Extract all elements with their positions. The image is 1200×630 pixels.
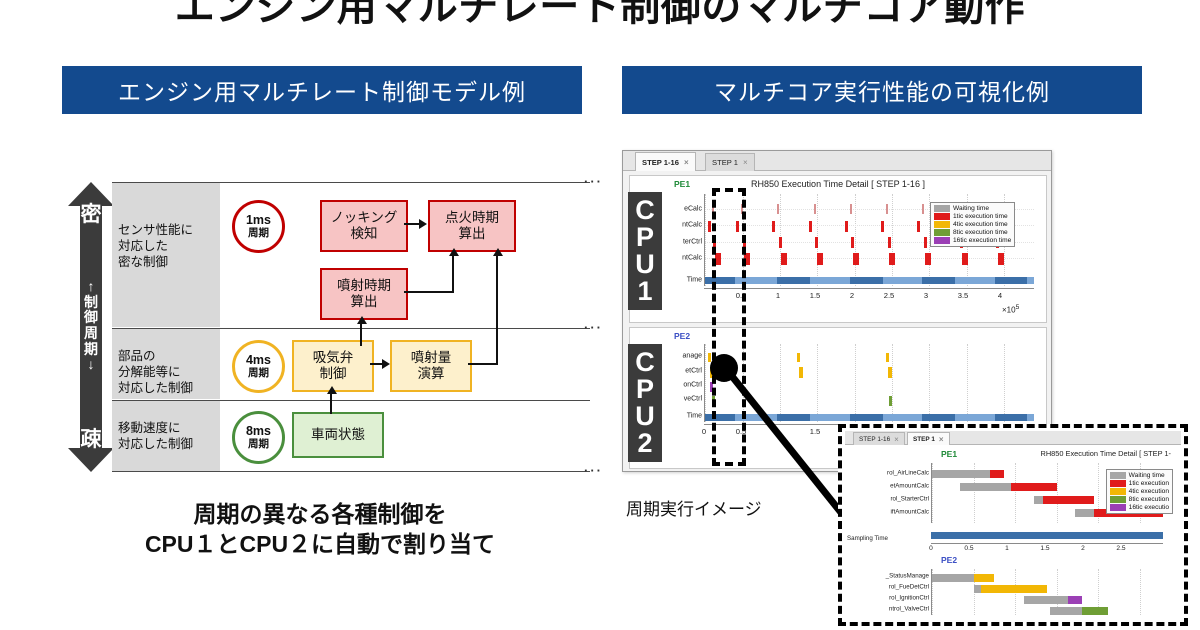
inset-pe2-label: PE2 <box>941 555 957 565</box>
waiting-bar <box>1034 496 1043 504</box>
legend-row: 16tic executio <box>1110 504 1169 511</box>
axis-label-dense: 密 <box>68 204 114 225</box>
exec-marker <box>772 221 775 232</box>
period-badge-4ms: 4ms 周期 <box>232 340 285 393</box>
multirate-control-model-diagram: 密 ↑ 制 御 周 期 ↓ 疎 ··· ··· ··· センサ性能に <box>60 182 590 472</box>
inset-tab-step-1-16[interactable]: STEP 1-16 × <box>853 432 905 445</box>
pe2-sampling-bar <box>705 414 1034 421</box>
node-line: 噴射時期 <box>337 278 391 294</box>
slide-root: エンジン用マルチレート制御のマルチコア動作 エンジン用マルチレート制御モデル例 … <box>0 0 1200 630</box>
gridline-v <box>929 344 930 422</box>
desc-line: 対応した <box>118 238 218 254</box>
period-value: 4ms <box>246 354 271 367</box>
exec-bar-4tic <box>981 585 1048 593</box>
gridline-h <box>705 258 1034 259</box>
node-line: 吸気弁 <box>313 350 354 366</box>
arrowhead-amount-to-injtiming <box>357 316 367 324</box>
selection-highlight-box <box>712 188 746 466</box>
cpu2-char: U <box>635 403 655 430</box>
legend-swatch-1tic <box>1110 480 1126 487</box>
pe2-label: PE2 <box>674 331 690 341</box>
axis-down-arrow: ↓ <box>88 357 95 373</box>
period-value: 1ms <box>246 214 271 227</box>
node-vehicle-state: 車両状態 <box>292 412 384 458</box>
connector-injtiming-v <box>452 256 454 293</box>
inset-sampling-label: Sampling Time <box>847 535 888 542</box>
pe2-row-label-3: veCtrl <box>684 395 702 402</box>
sampling-segment <box>850 277 883 284</box>
inset-chart-title: RH850 Execution Time Detail [ STEP 1- <box>1041 449 1172 458</box>
screenshot-caption: 周期実行イメージ <box>626 495 762 520</box>
tab-label: STEP 1-16 <box>642 158 679 167</box>
exec-marker <box>998 253 1004 265</box>
exec-bar-16tic <box>1068 596 1082 604</box>
cpu2-char: 2 <box>637 430 652 457</box>
legend-label: 4tic execution <box>1129 488 1169 495</box>
cpu1-char: P <box>636 224 654 251</box>
sampling-segment <box>922 414 955 421</box>
inset-pe2-panel: PE2 _StatusManage rol_FueDetCtrl rol_Ign… <box>845 553 1181 619</box>
node-injection-timing: 噴射時期 算出 <box>320 268 408 320</box>
legend-row: 16tic execution time <box>934 237 1011 244</box>
waiting-bar <box>960 483 1011 491</box>
continuation-dots-middle: ··· <box>584 321 603 334</box>
legend-label: 4tic execution time <box>953 221 1008 228</box>
waiting-bar <box>932 470 990 478</box>
axis-kanji-1: 御 <box>84 310 98 326</box>
sampling-segment <box>777 414 810 421</box>
pe1-sampling-bar <box>705 277 1034 284</box>
legend-row: 1tic execution <box>1110 480 1169 487</box>
exec-marker <box>779 237 782 248</box>
gridline-v <box>1015 463 1016 523</box>
node-line: 検知 <box>351 226 378 242</box>
legend-row: Waiting time <box>934 205 1011 212</box>
waiting-bar <box>974 585 981 593</box>
legend-label: Waiting time <box>1129 472 1165 479</box>
node-knocking-detection: ノッキング 検知 <box>320 200 408 252</box>
arrowhead-injtiming-to-ignition <box>449 248 459 256</box>
exec-marker <box>886 353 889 362</box>
continuation-dots-top: ··· <box>584 175 603 188</box>
control-period-axis-arrow: 密 ↑ 制 御 周 期 ↓ 疎 <box>68 182 114 472</box>
inset-pe1-x-axis <box>931 543 1163 544</box>
exponent-base: ×10 <box>1002 306 1016 315</box>
pe1-row-label-1: ntCalc <box>682 222 702 229</box>
exec-bar-1tic <box>1043 496 1094 504</box>
exec-bar-8tic <box>1082 607 1107 615</box>
connector-amount-ign-v <box>496 256 498 365</box>
legend-row: Waiting time <box>1110 472 1169 479</box>
legend-label: 1tic execution <box>1129 480 1169 487</box>
inset-pe2-row-0: _StatusManage <box>886 573 929 580</box>
caption-line-1: 周期の異なる各種制御を <box>40 500 600 530</box>
sampling-segment <box>995 277 1028 284</box>
legend-swatch-16tic <box>934 237 950 244</box>
pe1-row-label-3: ntCalc <box>682 255 702 262</box>
sampling-segment <box>922 277 955 284</box>
divider-top <box>112 182 590 183</box>
arrowhead-vehicle-to-valve <box>327 386 337 394</box>
arrow-down-head-icon <box>68 448 114 472</box>
legend-label: 1tic execution time <box>953 213 1008 220</box>
exec-marker <box>889 396 892 405</box>
exec-marker <box>962 253 968 265</box>
xtick: 1.5 <box>810 427 821 436</box>
pe2-row-label-1: etCtrl <box>685 367 702 374</box>
cpu1-char: U <box>635 251 655 278</box>
node-line: ノッキング <box>331 210 398 226</box>
connector-amount-to-injtiming <box>360 324 362 346</box>
xtick: 2 <box>850 291 854 300</box>
divider-4ms-8ms <box>112 400 590 401</box>
section-banner-left: エンジン用マルチレート制御モデル例 <box>62 66 582 114</box>
legend-swatch-8tic <box>1110 496 1126 503</box>
chart-title: RH850 Execution Time Detail [ STEP 1-16 … <box>630 179 1046 189</box>
exec-marker <box>708 353 711 362</box>
axis-kanji-0: 制 <box>84 295 98 311</box>
pe1-chart-panel: PE1 RH850 Execution Time Detail [ STEP 1… <box>629 175 1047 323</box>
exec-marker <box>924 237 927 248</box>
period-unit: 周期 <box>248 228 269 239</box>
tab-step-1[interactable]: STEP 1 × <box>705 153 755 171</box>
xtick: 1 <box>1005 545 1009 552</box>
pe2-sampling-label: Time <box>687 412 702 419</box>
legend-row: 8tic execution <box>1110 496 1169 503</box>
node-line: 演算 <box>418 366 445 382</box>
exec-bar-1tic <box>1011 483 1057 491</box>
divider-bottom <box>112 471 590 472</box>
legend-swatch-4tic <box>934 221 950 228</box>
gridline-v <box>1140 569 1141 615</box>
exec-marker <box>853 253 859 265</box>
desc-line: 部品の <box>118 348 218 364</box>
inset-pe2-row-3: ntrol_ValveCtrl <box>889 606 929 613</box>
legend-swatch-1tic <box>934 213 950 220</box>
exec-marker <box>881 221 884 232</box>
gridline-v <box>705 344 706 422</box>
node-line: 制御 <box>320 366 347 382</box>
exec-marker <box>886 204 888 214</box>
node-injection-amount: 噴射量 演算 <box>390 340 472 392</box>
exec-bar-1tic <box>990 470 1004 478</box>
node-line: 噴射量 <box>411 350 452 366</box>
node-line: 車両状態 <box>311 427 365 443</box>
inset-pe1-row-1: etAmountCalc <box>890 482 929 489</box>
exec-marker <box>845 221 848 232</box>
sampling-segment <box>850 414 883 421</box>
exponent-power: 5 <box>1016 304 1020 311</box>
xtick: 1.5 <box>1040 545 1049 552</box>
inset-pe1-row-0: rol_AirLineCalc <box>887 469 929 476</box>
pe1-row-label-2: terCtrl <box>683 238 702 245</box>
legend-row: 4tic execution <box>1110 488 1169 495</box>
connector-injtiming-h <box>404 291 454 293</box>
close-icon[interactable]: × <box>743 158 748 167</box>
inset-pe1-panel: PE1 RH850 Execution Time Detail [ STEP 1… <box>845 447 1181 551</box>
window-tabbar: STEP 1-16 × STEP 1 × <box>623 151 1051 171</box>
cpu2-char: C <box>635 349 655 376</box>
pe1-sampling-label: Time <box>687 277 702 284</box>
desc-line: 密な制御 <box>118 254 218 270</box>
legend-label: Waiting time <box>953 205 989 212</box>
close-icon[interactable]: × <box>684 158 689 167</box>
node-intake-valve-control: 吸気弁 制御 <box>292 340 374 392</box>
axis-label-sparse: 疎 <box>68 429 114 450</box>
section-banner-right: マルチコア実行性能の可視化例 <box>622 66 1142 114</box>
exec-marker <box>799 367 803 377</box>
cpu1-char: 1 <box>637 278 652 305</box>
xtick: 2.5 <box>884 291 895 300</box>
axis-label-control-period: ↑ 制 御 周 期 ↓ <box>68 250 114 402</box>
caption-line-2: CPU１とCPU２に自動で割り当て <box>40 530 600 560</box>
inset-tabbar: STEP 1-16 × STEP 1 × <box>845 431 1181 445</box>
exec-marker <box>797 353 800 362</box>
waiting-bar <box>932 574 974 582</box>
xtick: 1 <box>776 427 780 436</box>
continuation-dots-bottom: ··· <box>584 464 603 477</box>
divider-1ms-4ms <box>112 328 590 329</box>
pe2-row-label-0: anage <box>683 353 702 360</box>
row-description-8ms: 移動速度に 対応した制御 <box>118 420 218 452</box>
desc-line: 移動速度に <box>118 420 218 436</box>
legend-row: 8tic execution time <box>934 229 1011 236</box>
exec-marker <box>888 367 892 377</box>
pe1-row-label-0: eCalc <box>684 205 702 212</box>
period-badge-1ms: 1ms 周期 <box>232 200 285 253</box>
period-badge-8ms: 8ms 周期 <box>232 411 285 464</box>
inset-pe1-label: PE1 <box>941 449 957 459</box>
tab-label: STEP 1-16 <box>859 436 890 443</box>
exec-marker <box>809 221 812 232</box>
node-line: 算出 <box>459 226 486 242</box>
gridline-v <box>1057 463 1058 523</box>
exec-marker <box>922 204 924 214</box>
period-unit: 周期 <box>248 368 269 379</box>
exec-marker <box>888 237 891 248</box>
waiting-bar <box>1024 596 1068 604</box>
pe2-row-label-2: onCtrl <box>683 381 702 388</box>
xtick: 4 <box>998 291 1002 300</box>
legend-row: 4tic execution time <box>934 221 1011 228</box>
inset-pe2-row-1: rol_FueDetCtrl <box>889 584 929 591</box>
exec-marker <box>917 221 920 232</box>
gridline-v <box>780 344 781 422</box>
axis-up-arrow: ↑ <box>88 279 95 295</box>
exec-marker <box>889 253 895 265</box>
tab-step-1-16[interactable]: STEP 1-16 × <box>635 152 696 171</box>
xtick: 0 <box>929 545 933 552</box>
legend-swatch-waiting <box>934 205 950 212</box>
gridline-v <box>855 344 856 422</box>
inset-legend: Waiting time 1tic execution 4tic executi… <box>1106 469 1173 514</box>
exec-bar-4tic <box>974 574 995 582</box>
exec-marker <box>851 237 854 248</box>
cpu1-char: C <box>635 197 655 224</box>
legend-swatch-waiting <box>1110 472 1126 479</box>
close-icon[interactable]: × <box>894 435 899 444</box>
pe1-x-axis <box>704 288 1034 289</box>
sampling-segment <box>777 277 810 284</box>
exec-marker <box>777 204 779 214</box>
desc-line: 分解能等に <box>118 364 218 380</box>
exec-marker <box>925 253 931 265</box>
desc-line: 対応した制御 <box>118 380 218 396</box>
legend-swatch-8tic <box>934 229 950 236</box>
page-title: エンジン用マルチレート制御のマルチコア動作 <box>0 0 1200 32</box>
axis-exponent: ×105 <box>1002 304 1019 315</box>
inset-tab-step-1[interactable]: STEP 1 × <box>907 432 950 445</box>
desc-line: センサ性能に <box>118 222 218 238</box>
inset-content: STEP 1-16 × STEP 1 × PE1 RH850 Execution… <box>845 431 1181 619</box>
gridline-v <box>892 344 893 422</box>
row-description-4ms: 部品の 分解能等に 対応した制御 <box>118 348 218 396</box>
period-value: 8ms <box>246 425 271 438</box>
inset-sampling-bar <box>931 532 1163 539</box>
close-icon[interactable]: × <box>939 435 944 444</box>
node-line: 算出 <box>351 294 378 310</box>
sampling-segment <box>995 414 1028 421</box>
xtick: 0 <box>702 427 706 436</box>
detail-inset-window[interactable]: STEP 1-16 × STEP 1 × PE1 RH850 Execution… <box>838 424 1188 626</box>
cpu1-tab: C P U 1 <box>628 192 662 310</box>
legend-label: 8tic execution <box>1129 496 1169 503</box>
arrowhead-amount-to-ignition <box>493 248 503 256</box>
chart-legend: Waiting time 1tic execution time 4tic ex… <box>930 202 1015 247</box>
node-line: 点火時期 <box>445 210 499 226</box>
legend-label: 8tic execution time <box>953 229 1008 236</box>
diagram-grid: ··· ··· ··· センサ性能に 対応した 密な制御 部品の 分解能等に 対… <box>112 182 590 472</box>
exec-marker <box>815 237 818 248</box>
legend-label: 16tic executio <box>1129 504 1169 511</box>
exec-marker <box>708 221 711 232</box>
legend-row: 1tic execution time <box>934 213 1011 220</box>
exec-marker <box>814 204 816 214</box>
axis-kanji-2: 周 <box>84 326 98 342</box>
period-unit: 周期 <box>248 439 269 450</box>
connector-vehicle-to-valve <box>330 394 332 414</box>
desc-line: 対応した制御 <box>118 436 218 452</box>
sampling-segment <box>931 532 1163 539</box>
axis-kanji-3: 期 <box>84 342 98 358</box>
inset-pe1-row-2: rol_StarterCtrl <box>890 496 929 503</box>
inset-pe1-row-3: iftAmountCalc <box>890 509 929 516</box>
waiting-bar <box>1075 509 1093 517</box>
inset-pe2-row-2: rol_IgnitionCtrl <box>889 595 929 602</box>
xtick: 3.5 <box>958 291 969 300</box>
connector-amount-ign-h <box>468 363 498 365</box>
xtick: 1 <box>776 291 780 300</box>
gridline-v <box>1004 344 1005 422</box>
tab-label: STEP 1 <box>913 436 935 443</box>
diagram-caption: 周期の異なる各種制御を CPU１とCPU２に自動で割り当て <box>40 500 600 560</box>
exec-marker <box>817 253 823 265</box>
legend-label: 16tic execution time <box>953 237 1011 244</box>
gridline-v <box>967 344 968 422</box>
arrowhead-valve-to-amount <box>382 359 390 369</box>
pe2-plot-area: anage etCtrl onCtrl veCtrl Time <box>704 344 1034 422</box>
inset-pe2-plot: _StatusManage rol_FueDetCtrl rol_Ignitio… <box>931 569 1163 615</box>
tab-label: STEP 1 <box>712 158 738 167</box>
xtick: 0.5 <box>964 545 973 552</box>
cpu2-tab: C P U 2 <box>628 344 662 462</box>
xtick: 3 <box>924 291 928 300</box>
exec-marker <box>781 253 787 265</box>
cpu2-char: P <box>636 376 654 403</box>
node-ignition-timing: 点火時期 算出 <box>428 200 516 252</box>
xtick: 1.5 <box>810 291 821 300</box>
waiting-bar <box>1050 607 1082 615</box>
legend-swatch-4tic <box>1110 488 1126 495</box>
xtick: 2 <box>1081 545 1085 552</box>
connector-knocking-to-ignition <box>404 223 420 225</box>
xtick: 2.5 <box>1116 545 1125 552</box>
gridline-v <box>817 344 818 422</box>
legend-swatch-16tic <box>1110 504 1126 511</box>
exec-marker <box>850 204 852 214</box>
row-description-1ms: センサ性能に 対応した 密な制御 <box>118 222 218 270</box>
arrowhead-knocking-to-ignition <box>419 219 427 229</box>
